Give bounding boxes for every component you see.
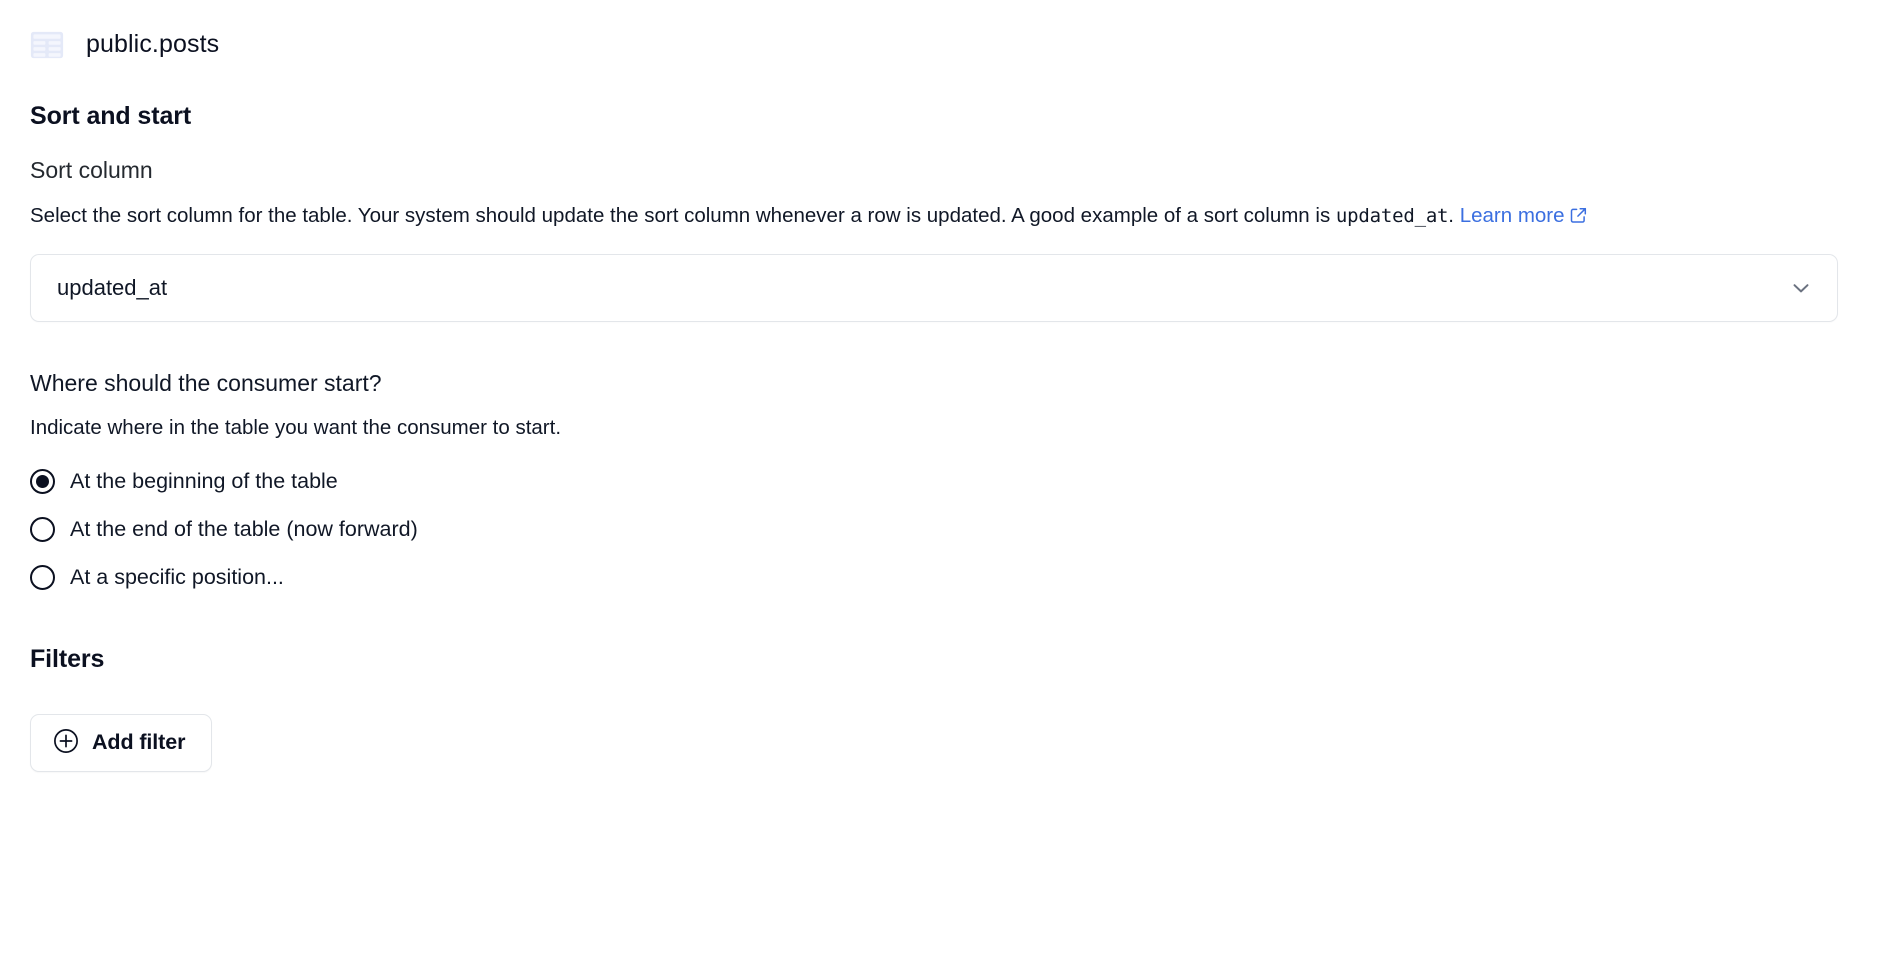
consumer-start-radio-group: At the beginning of the table At the end… <box>30 458 1838 602</box>
table-icon <box>30 31 64 59</box>
sort-column-label: Sort column <box>30 157 1838 185</box>
radio-option-end-of-table[interactable]: At the end of the table (now forward) <box>30 506 1838 554</box>
consumer-start-heading: Where should the consumer start? <box>30 370 1838 398</box>
sort-column-select[interactable]: updated_at <box>30 254 1838 322</box>
add-filter-button[interactable]: Add filter <box>30 714 212 772</box>
radio-option-label: At a specific position... <box>70 567 284 589</box>
sort-column-select-value: updated_at <box>57 275 167 301</box>
add-filter-label: Add filter <box>92 730 185 755</box>
section-heading-filters: Filters <box>30 644 1838 674</box>
section-heading-sort-and-start: Sort and start <box>30 101 1838 131</box>
sort-and-start-panel: public.posts Sort and start Sort column … <box>0 0 1880 980</box>
sort-column-help: Select the sort column for the table. Yo… <box>30 199 1795 235</box>
sort-column-help-text: Select the sort column for the table. Yo… <box>30 204 1336 227</box>
learn-more-label: Learn more <box>1460 204 1565 227</box>
page-title: public.posts <box>86 32 219 59</box>
radio-option-beginning-of-table[interactable]: At the beginning of the table <box>30 458 1838 506</box>
radio-indicator[interactable] <box>30 565 55 590</box>
sort-column-help-suffix: . <box>1448 204 1459 227</box>
learn-more-link[interactable]: Learn more <box>1460 204 1587 227</box>
consumer-start-help: Indicate where in the table you want the… <box>30 415 1838 442</box>
chevron-down-icon <box>1788 275 1814 301</box>
radio-option-specific-position[interactable]: At a specific position... <box>30 554 1838 602</box>
panel-body: Sort and start Sort column Select the so… <box>0 101 1880 772</box>
radio-option-label: At the beginning of the table <box>70 471 338 493</box>
radio-indicator[interactable] <box>30 469 55 494</box>
sort-column-help-code: updated_at <box>1336 205 1448 227</box>
plus-circle-icon <box>53 728 79 757</box>
external-link-icon <box>1570 201 1587 235</box>
radio-indicator[interactable] <box>30 517 55 542</box>
radio-option-label: At the end of the table (now forward) <box>70 519 418 541</box>
table-header: public.posts <box>0 0 1880 64</box>
